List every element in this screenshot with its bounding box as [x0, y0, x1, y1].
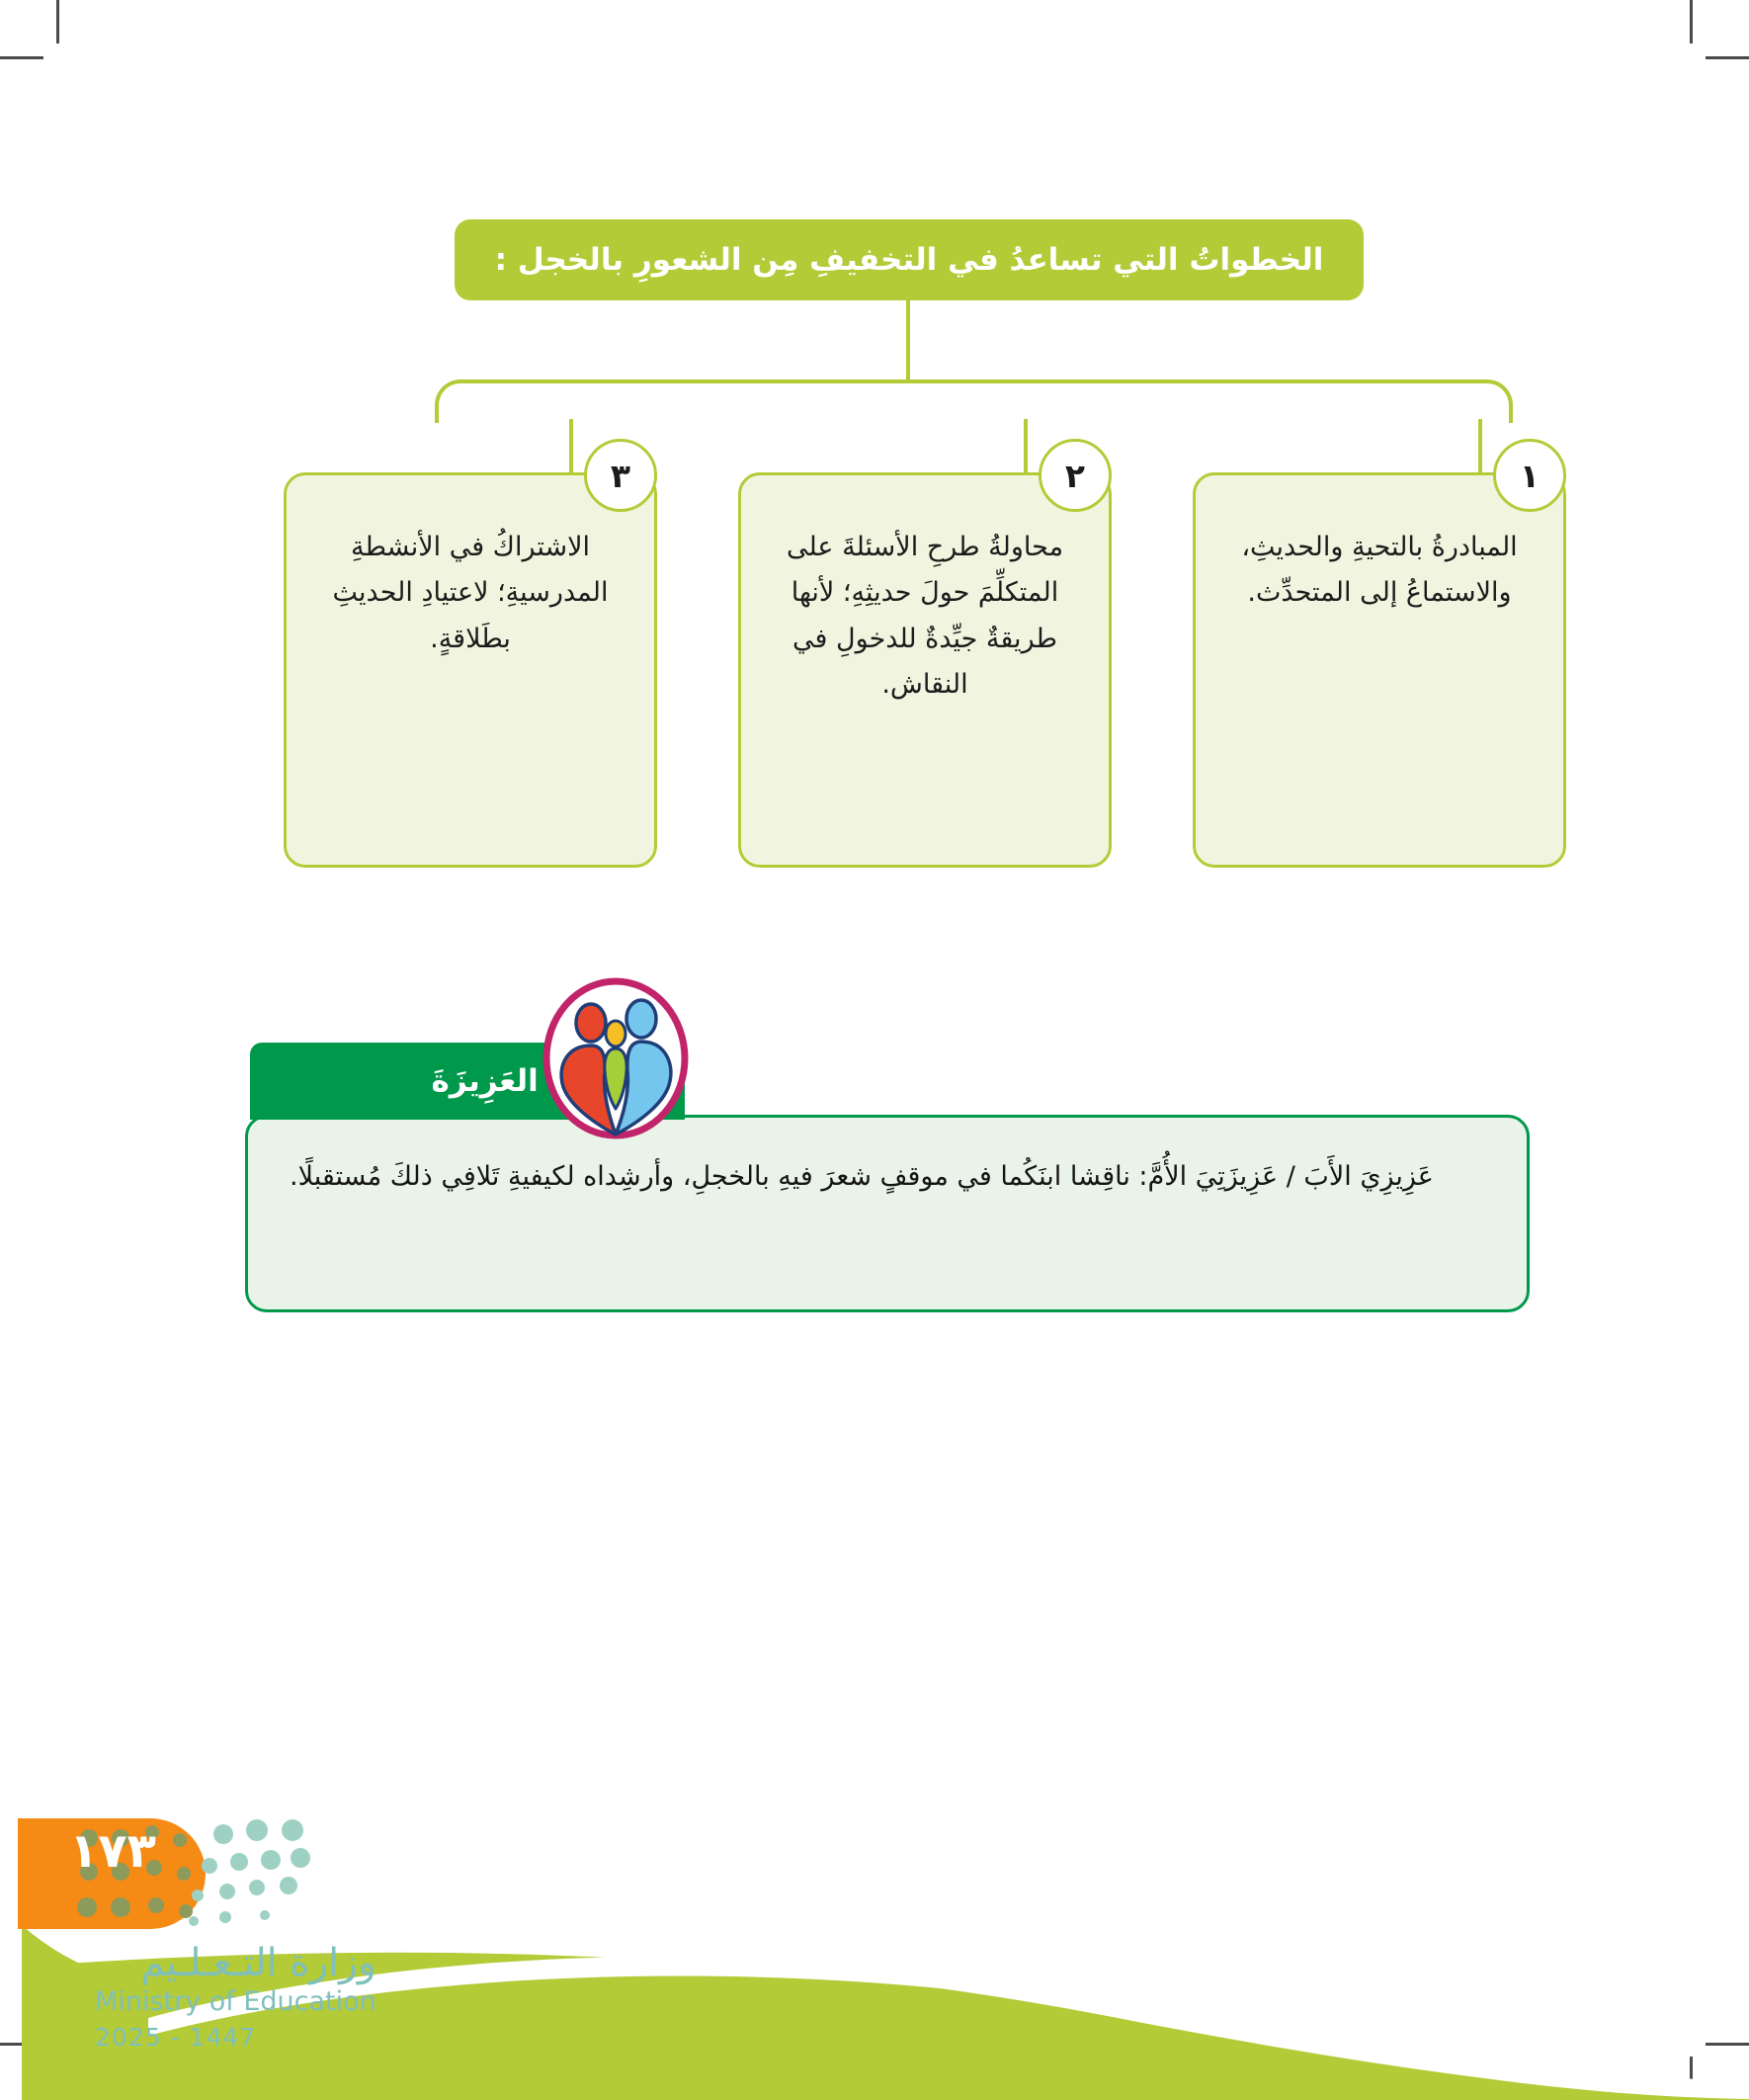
- step-badge-3: ٣: [584, 439, 657, 512]
- page-number-label: ١٧٣: [69, 1823, 156, 1879]
- family-heart-logo-icon: [541, 976, 690, 1140]
- ministry-name-arabic: وزارة التـعـلـيم: [95, 1943, 376, 1984]
- family-note-section: عَزِيزِيَ الأَبَ / عَزِيزَتِيَ الأُمَّ: …: [0, 0, 1749, 1384]
- step-badge-1: ١: [1493, 439, 1566, 512]
- family-note-text: عَزِيزِيَ الأَبَ / عَزِيزَتِيَ الأُمَّ: …: [290, 1151, 1485, 1204]
- ministry-year: 2025 - 1447: [95, 2021, 376, 2055]
- ministry-logotype: وزارة التـعـلـيم Ministry of Education 2…: [95, 1943, 376, 2054]
- ministry-name-english: Ministry of Education: [95, 1984, 376, 2020]
- step-badge-2: ٢: [1039, 439, 1112, 512]
- family-note-body: عَزِيزِيَ الأَبَ / عَزِيزَتِيَ الأُمَّ: …: [245, 1115, 1530, 1312]
